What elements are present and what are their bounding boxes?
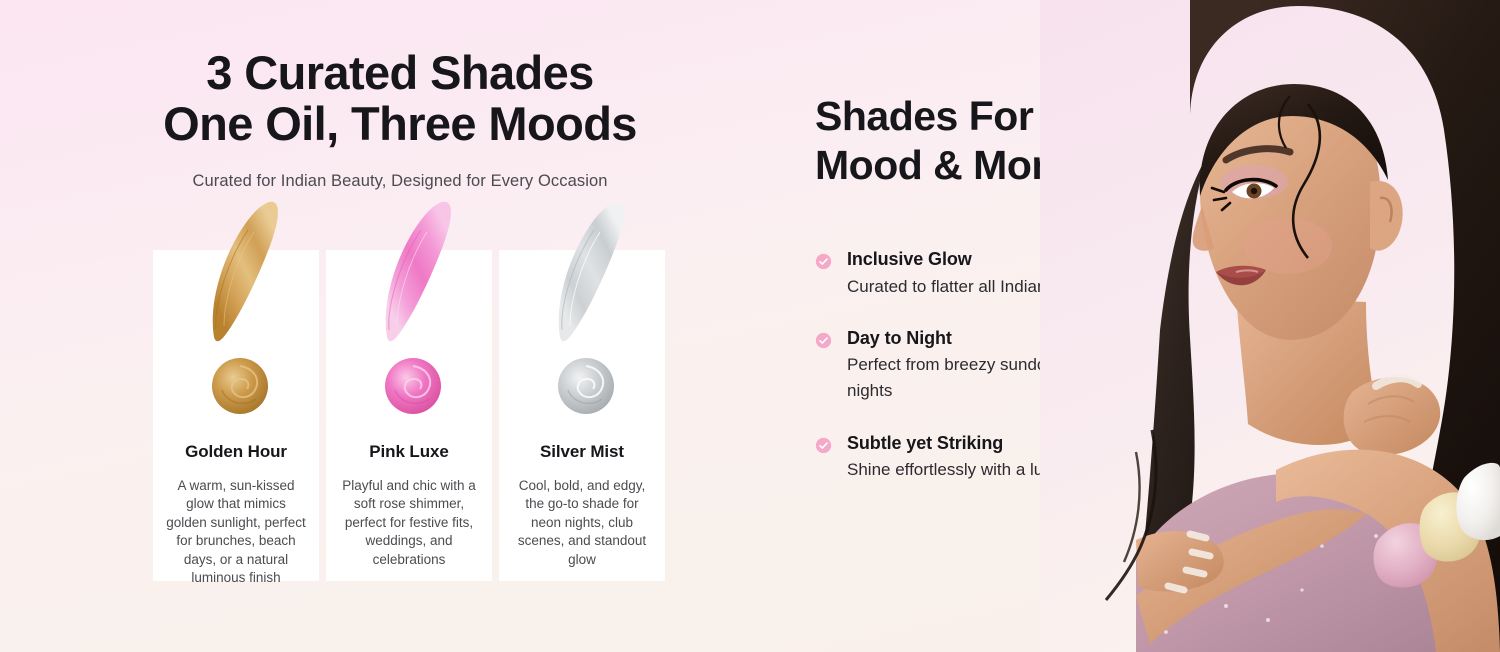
- silver-brush-smear-icon: [499, 194, 665, 424]
- shade-card-title: Pink Luxe: [369, 442, 448, 462]
- left-heading-block: 3 Curated Shades One Oil, Three Moods Cu…: [0, 48, 800, 191]
- shade-card-title: Silver Mist: [540, 442, 624, 462]
- shade-card-description: Playful and chic with a soft rose shimme…: [338, 477, 480, 569]
- shade-card-silver-mist[interactable]: Silver Mist Cool, bold, and edgy, the go…: [499, 250, 665, 581]
- check-circle-icon: [815, 332, 832, 349]
- golden-brush-smear-icon: [153, 194, 319, 424]
- left-content-column: 3 Curated Shades One Oil, Three Moods Cu…: [0, 0, 800, 652]
- shade-card-pink-luxe[interactable]: Pink Luxe Playful and chic with a soft r…: [326, 250, 492, 581]
- page-title-line-1: 3 Curated Shades: [0, 48, 800, 99]
- shade-card-description: A warm, sun-kissed glow that mimics gold…: [165, 477, 307, 588]
- pink-brush-smear-icon: [326, 194, 492, 424]
- check-circle-icon: [815, 253, 832, 270]
- shade-card-description: Cool, bold, and edgy, the go-to shade fo…: [511, 477, 653, 569]
- page-title-line-2: One Oil, Three Moods: [0, 99, 800, 150]
- shade-card-golden-hour[interactable]: Golden Hour A warm, sun-kissed glow that…: [153, 250, 319, 581]
- page-subtitle: Curated for Indian Beauty, Designed for …: [0, 172, 800, 191]
- shade-card-title: Golden Hour: [185, 442, 287, 462]
- shade-card-row: Golden Hour A warm, sun-kissed glow that…: [153, 250, 665, 581]
- check-circle-icon: [815, 437, 832, 454]
- model-photo: [1040, 0, 1500, 652]
